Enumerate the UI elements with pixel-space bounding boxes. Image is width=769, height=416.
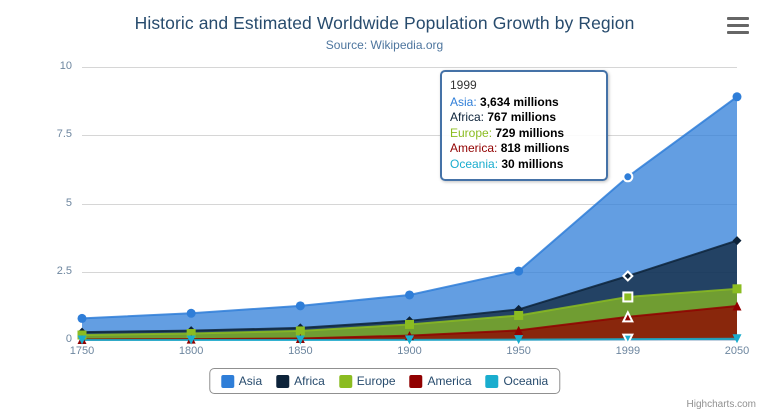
legend: AsiaAfricaEuropeAmericaOceania	[209, 368, 560, 394]
x-axis-tick-label: 1800	[179, 345, 203, 357]
legend-item-label: Asia	[239, 374, 262, 388]
tooltip-series-name: America:	[450, 141, 501, 155]
legend-item-asia[interactable]: Asia	[221, 374, 262, 388]
legend-color-swatch	[276, 375, 289, 388]
x-axis-tick-label: 1900	[397, 345, 421, 357]
tooltip-series-name: Oceania:	[450, 157, 501, 171]
hamburger-bar	[727, 17, 749, 20]
tooltip-header: 1999	[450, 78, 598, 95]
tooltip: 1999 Asia: 3,634 millionsAfrica: 767 mil…	[440, 70, 608, 181]
legend-item-label: Oceania	[504, 374, 549, 388]
tooltip-row: America: 818 millions	[450, 141, 598, 157]
data-point-marker[interactable]	[623, 292, 632, 301]
data-point-marker[interactable]	[405, 290, 414, 299]
hamburger-bar	[727, 31, 749, 34]
plot-area: 02.557.510	[82, 67, 737, 340]
data-point-marker[interactable]	[514, 267, 523, 276]
data-point-marker[interactable]	[623, 172, 632, 181]
chart-title: Historic and Estimated Worldwide Populat…	[0, 13, 769, 34]
y-axis-tick-label: 7.5	[26, 128, 72, 140]
y-axis-tick-label: 2.5	[26, 265, 72, 277]
y-axis-tick-label: 0	[26, 333, 72, 345]
tooltip-row: Asia: 3,634 millions	[450, 95, 598, 111]
tooltip-row: Africa: 767 millions	[450, 110, 598, 126]
y-axis-tick-label: 5	[26, 197, 72, 209]
x-axis-tick-label: 1950	[506, 345, 530, 357]
data-point-marker[interactable]	[733, 284, 742, 293]
legend-item-label: Europe	[357, 374, 396, 388]
legend-item-label: America	[428, 374, 472, 388]
x-axis-tick-label: 1750	[70, 345, 94, 357]
highcharts-container: Historic and Estimated Worldwide Populat…	[0, 0, 769, 416]
tooltip-row: Europe: 729 millions	[450, 126, 598, 142]
data-point-marker[interactable]	[78, 314, 87, 323]
legend-items: AsiaAfricaEuropeAmericaOceania	[221, 374, 548, 388]
data-point-marker[interactable]	[187, 309, 196, 318]
data-point-marker[interactable]	[733, 92, 742, 101]
tooltip-row: Oceania: 30 millions	[450, 157, 598, 173]
tooltip-series-name: Africa:	[450, 110, 487, 124]
tooltip-series-value: 30 millions	[501, 157, 563, 171]
legend-color-swatch	[339, 375, 352, 388]
hamburger-menu-icon[interactable]	[727, 17, 749, 35]
tooltip-rows: Asia: 3,634 millionsAfrica: 767 millions…	[450, 95, 598, 173]
y-axis-tick-label: 10	[26, 60, 72, 72]
legend-item-oceania[interactable]: Oceania	[486, 374, 549, 388]
legend-item-europe[interactable]: Europe	[339, 374, 396, 388]
tooltip-series-value: 767 millions	[487, 110, 556, 124]
legend-item-africa[interactable]: Africa	[276, 374, 325, 388]
hamburger-bar	[727, 24, 749, 27]
x-axis-tick-label: 1999	[616, 345, 640, 357]
tooltip-series-value: 818 millions	[501, 141, 570, 155]
credits-label: Highcharts.com	[687, 399, 756, 410]
legend-color-swatch	[486, 375, 499, 388]
series-layer	[82, 67, 737, 340]
legend-color-swatch	[221, 375, 234, 388]
legend-item-america[interactable]: America	[410, 374, 472, 388]
legend-item-label: Africa	[294, 374, 325, 388]
data-point-marker[interactable]	[296, 301, 305, 310]
x-axis-tick-label: 2050	[725, 345, 749, 357]
tooltip-series-name: Europe:	[450, 126, 495, 140]
legend-color-swatch	[410, 375, 423, 388]
data-point-marker[interactable]	[623, 335, 632, 344]
tooltip-series-value: 729 millions	[495, 126, 564, 140]
data-point-marker[interactable]	[514, 311, 523, 320]
tooltip-series-value: 3,634 millions	[480, 95, 559, 109]
tooltip-series-name: Asia:	[450, 95, 480, 109]
data-point-marker[interactable]	[405, 320, 414, 329]
x-axis-tick-label: 1850	[288, 345, 312, 357]
